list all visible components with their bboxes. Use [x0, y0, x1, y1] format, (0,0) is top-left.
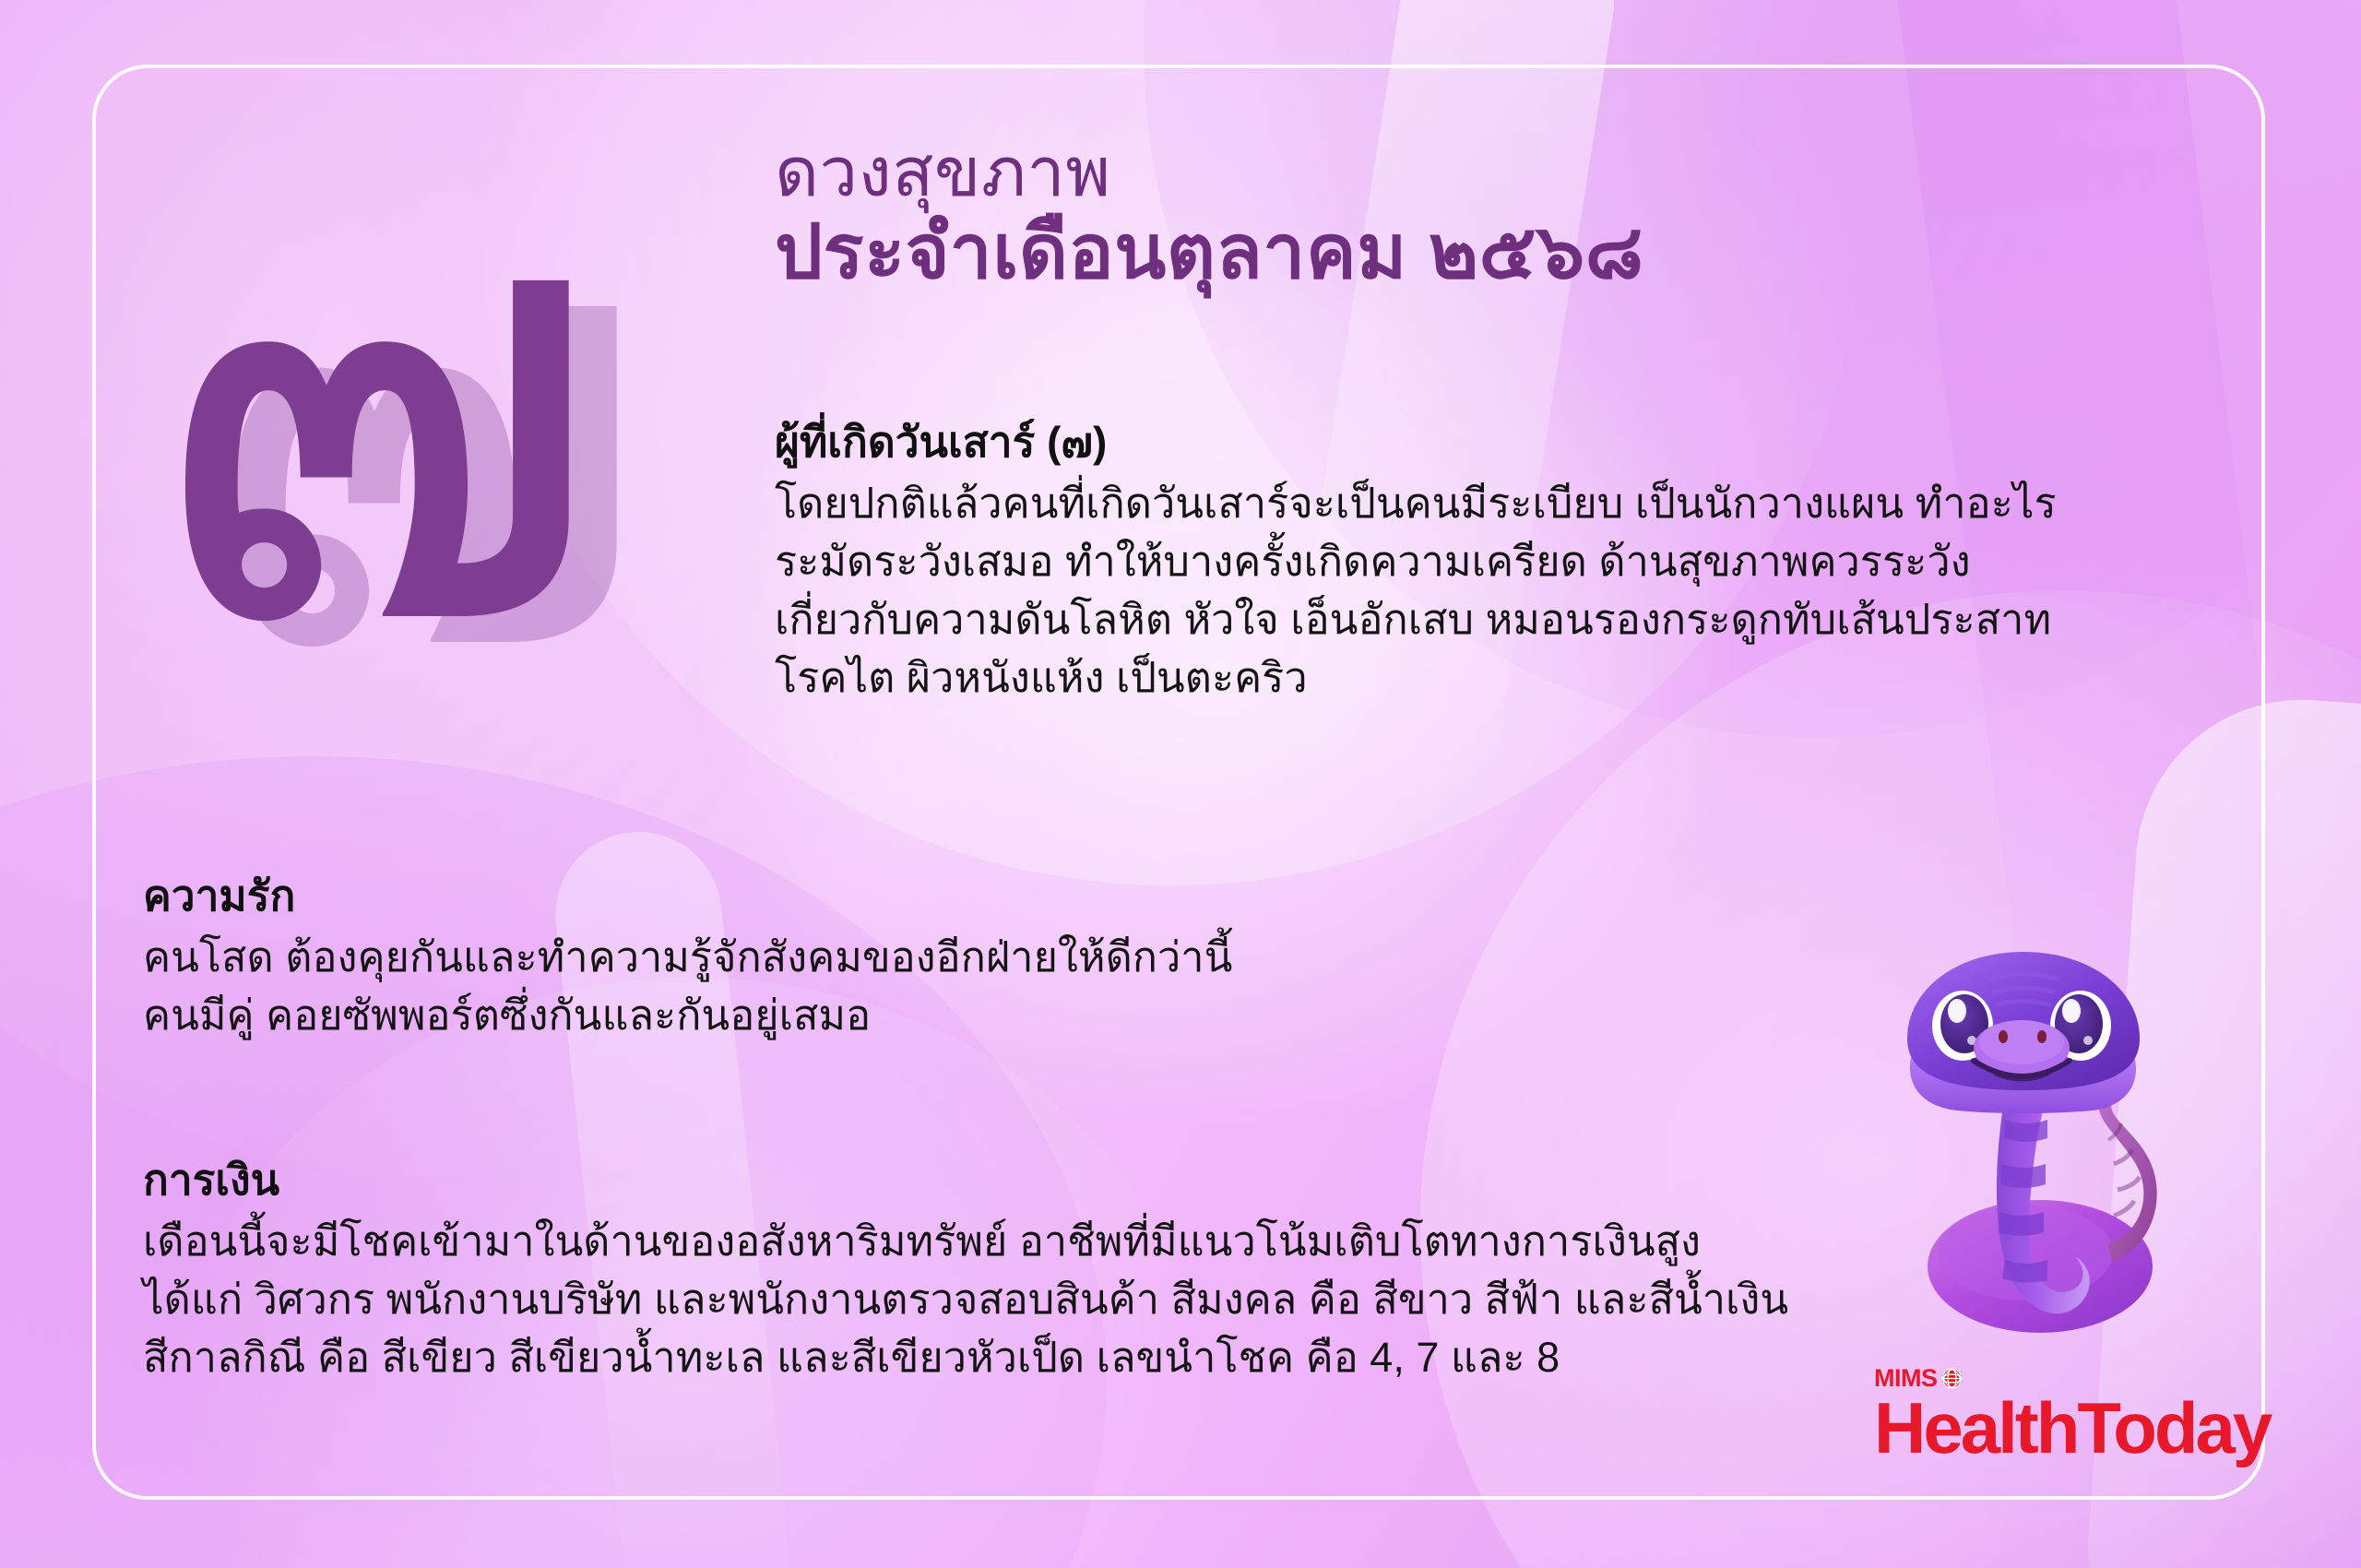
section-saturday-line-2: ระมัดระวังเสมอ ทำให้บางครั้งเกิดความเครี…: [775, 532, 2232, 590]
thai-numeral-main: ๗: [148, 101, 605, 710]
section-finance: การเงิน เดือนนี้จะมีโชคเข้ามาในด้านของอส…: [143, 1151, 1987, 1386]
section-saturday-line-1: โดยปกติแล้วคนที่เกิดวันเสาร์จะเป็นคนมีระ…: [775, 474, 2232, 532]
page-title: ดวงสุขภาพ ประจำเดือนตุลาคม ๒๕๖๘: [775, 137, 2213, 297]
section-saturday-line-4: โรคไต ผิวหนังแห้ง เป็นตะคริว: [775, 648, 2232, 707]
thai-numeral-seven-decoration: ๗ ๗: [138, 101, 618, 784]
healthtoday-logo: MIMS HealthToday: [1874, 1365, 2243, 1476]
title-line-primary: ดวงสุขภาพ: [775, 137, 2213, 208]
mims-globe-icon: [1941, 1368, 1963, 1389]
section-saturday-line-3: เกี่ยวกับความดันโลหิต หัวใจ เอ็นอักเสบ ห…: [775, 590, 2232, 648]
section-love-heading: ความรัก: [143, 867, 1619, 924]
section-love-line-1: คนโสด ต้องคุยกันและทำความรู้จักสังคมของอ…: [143, 928, 1619, 986]
section-finance-line-3: สีกาลกิณี คือ สีเขียว สีเขียวน้ำทะเล และ…: [143, 1328, 1987, 1386]
section-love-line-2: คนมีคู่ คอยซัพพอร์ตซึ่งกันและกันอยู่เสมอ: [143, 986, 1619, 1044]
section-finance-line-1: เดือนนี้จะมีโชคเข้ามาในด้านของอสังหาริมท…: [143, 1212, 1987, 1270]
title-line-secondary: ประจำเดือนตุลาคม ๒๕๖๘: [775, 208, 2213, 298]
section-finance-heading: การเงิน: [143, 1151, 1987, 1208]
section-finance-line-2: ได้แก่ วิศวกร พนักงานบริษัท และพนักงานตร…: [143, 1270, 1987, 1328]
healthtoday-wordmark: HealthToday: [1874, 1393, 2243, 1463]
section-saturday-heading: ผู้ที่เกิดวันเสาร์ (๗): [775, 413, 2232, 470]
section-love: ความรัก คนโสด ต้องคุยกันและทำความรู้จักส…: [143, 867, 1619, 1044]
section-saturday: ผู้ที่เกิดวันเสาร์ (๗) โดยปกติแล้วคนที่เ…: [775, 413, 2232, 707]
horoscope-poster: ๗ ๗ ดวงสุขภาพ ประจำเดือนตุลาคม ๒๕๖๘ ผู้ท…: [0, 0, 2361, 1568]
snake-mascot-icon: [1867, 939, 2236, 1354]
